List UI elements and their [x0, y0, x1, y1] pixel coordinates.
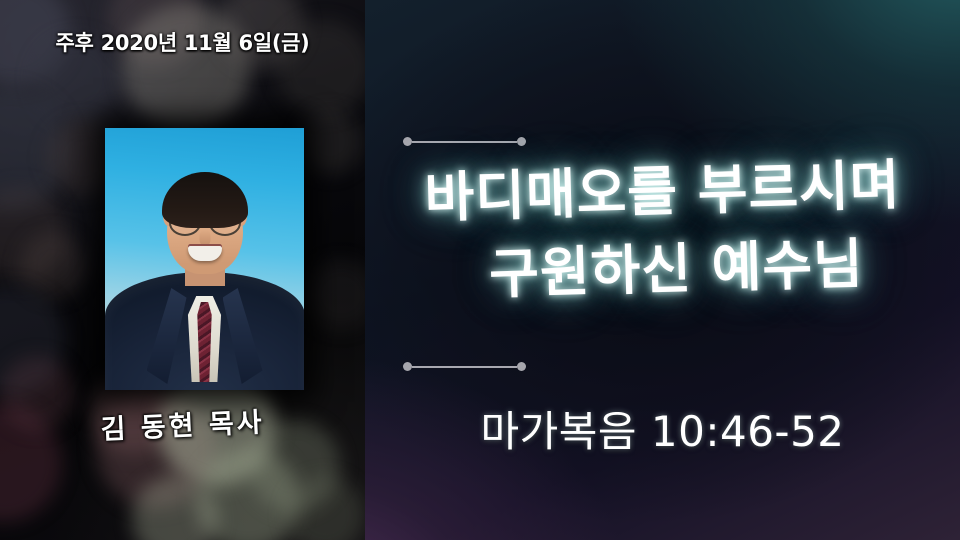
- suit-lapel-right: [223, 288, 263, 384]
- bokeh-circle: [0, 88, 70, 210]
- scripture-reference: 마가복음 10:46-52: [365, 398, 960, 459]
- service-date: 주후 2020년 11월 6일(금): [0, 27, 365, 57]
- line-end-dot-icon: [403, 362, 412, 371]
- speaker-photo: [105, 128, 304, 390]
- bokeh-circle: [132, 476, 218, 540]
- suit-lapel-left: [147, 288, 187, 384]
- sermon-title: 바디매오를 부르시며 구원하신 예수님: [365, 165, 960, 297]
- smiling-mouth: [188, 246, 222, 261]
- decorative-line: [412, 141, 517, 143]
- bokeh-circle: [122, 4, 250, 132]
- bokeh-circle: [0, 186, 68, 282]
- sermon-title-line-2: 구원하신 예수님: [378, 234, 960, 305]
- line-end-dot-icon: [403, 137, 412, 146]
- bokeh-circle: [0, 286, 66, 396]
- bokeh-circle: [306, 260, 365, 330]
- bokeh-circle: [196, 448, 300, 540]
- line-end-dot-icon: [517, 137, 526, 146]
- speaker-suit: [105, 272, 304, 390]
- line-end-dot-icon: [517, 362, 526, 371]
- speaker-name: 김 동현 목사: [0, 396, 365, 452]
- bokeh-circle: [20, 232, 86, 298]
- bokeh-circle: [286, 476, 364, 540]
- decorative-rule-bottom: [403, 362, 526, 371]
- nose: [199, 230, 210, 246]
- sermon-title-slide: 주후 2020년 11월 6일(금) 김 동현 목사 바디매오를 부르시며 구원…: [0, 0, 960, 540]
- decorative-rule-top: [403, 137, 526, 146]
- sermon-title-line-1: 바디매오를 부르시며: [364, 157, 960, 228]
- left-panel: 주후 2020년 11월 6일(금) 김 동현 목사: [0, 0, 365, 540]
- decorative-line: [412, 366, 517, 368]
- bokeh-circle: [298, 110, 362, 174]
